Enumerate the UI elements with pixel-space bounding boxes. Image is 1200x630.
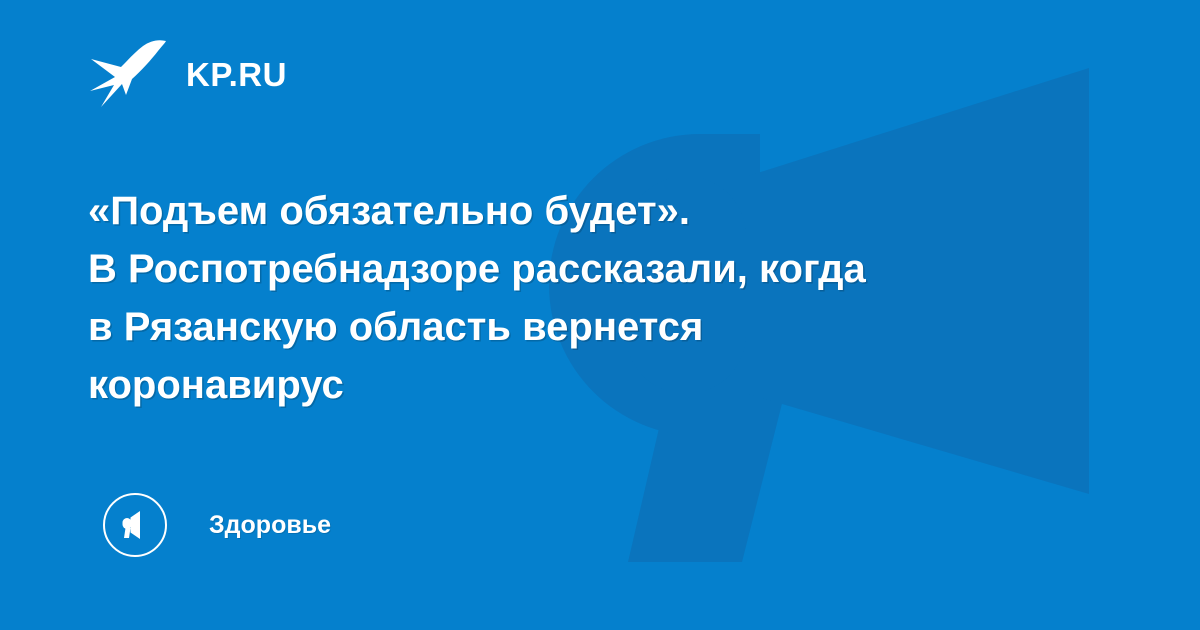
swallow-bird-icon: [88, 35, 170, 113]
logo-wordmark: KP.RU: [186, 58, 287, 91]
headline-line-1: «Подъем обязательно будет».: [88, 182, 1098, 240]
category-icon-circle: [103, 493, 167, 557]
page-title: «Подъем обязательно будет». В Роспотребн…: [88, 182, 1098, 414]
headline-line-2: В Роспотребнадзоре рассказали, когда: [88, 240, 1098, 298]
site-logo[interactable]: KP.RU: [88, 34, 287, 114]
social-share-card: KP.RU «Подъем обязательно будет». В Росп…: [0, 0, 1200, 630]
category-badge[interactable]: Здоровье: [103, 493, 331, 557]
megaphone-icon: [118, 508, 152, 542]
category-label: Здоровье: [209, 513, 331, 538]
headline-line-3: в Рязанскую область вернется: [88, 298, 1098, 356]
headline-line-4: коронавирус: [88, 356, 1098, 414]
